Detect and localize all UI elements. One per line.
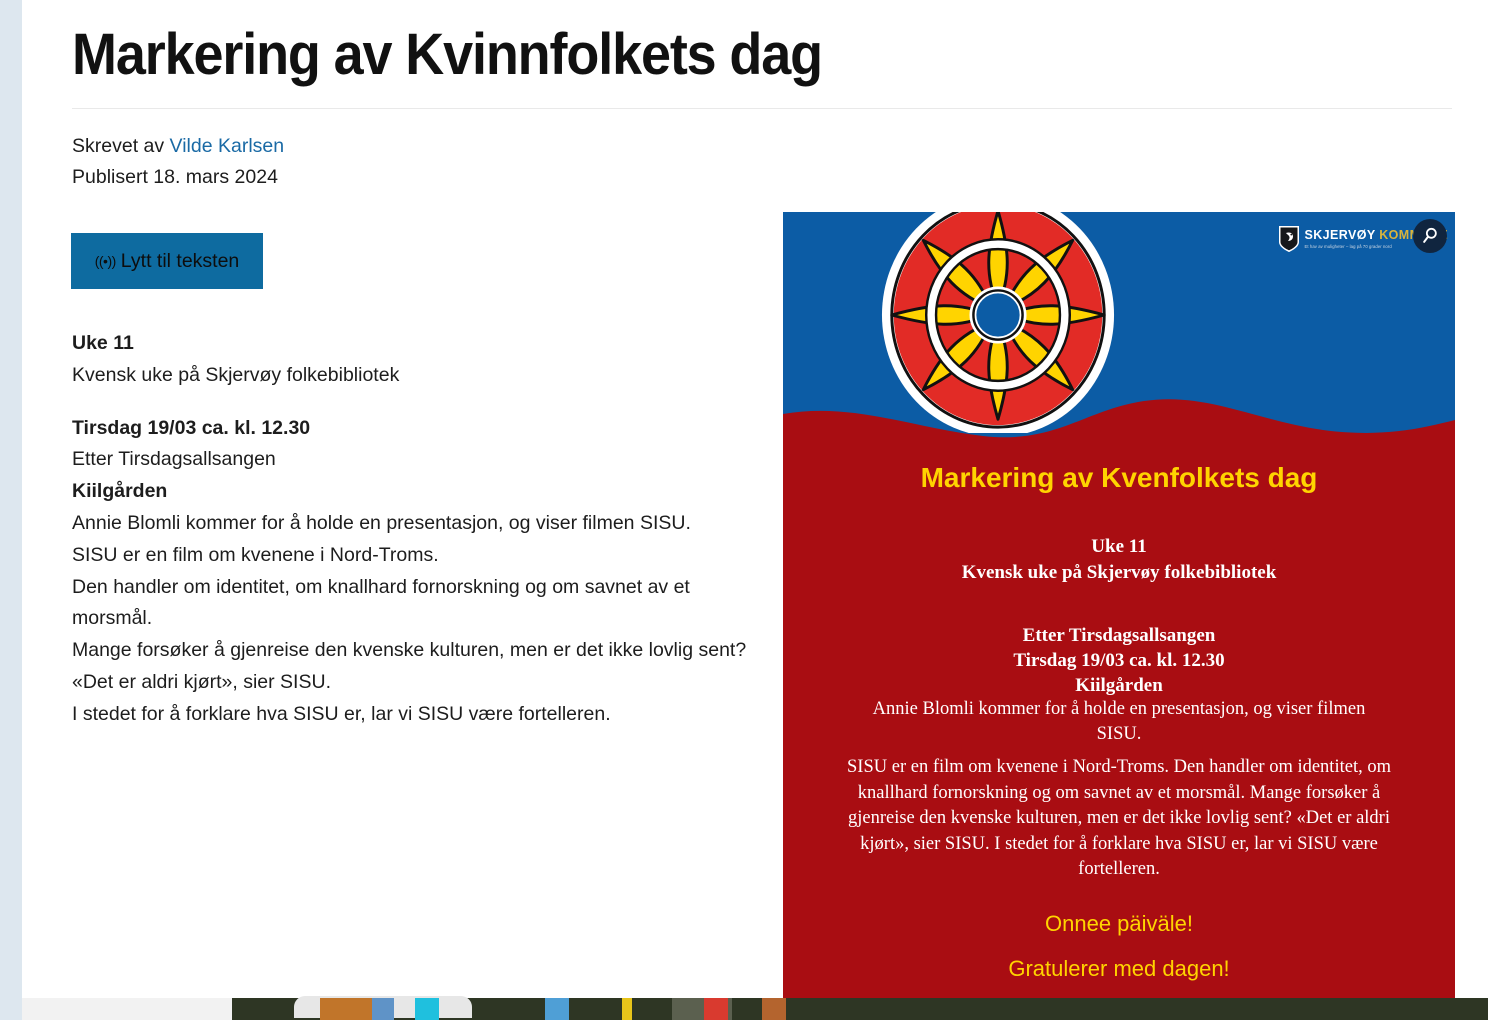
- body-line: Tirsdag 19/03 ca. kl. 12.30: [72, 413, 762, 445]
- body-line: Mange forsøker å gjenreise den kvenske k…: [72, 635, 762, 699]
- title-divider: [72, 108, 1452, 109]
- poster-title: Markering av Kvenfolkets dag: [783, 462, 1455, 494]
- dock-icon-yellow[interactable]: [622, 998, 632, 1020]
- broadcast-icon: ((•)): [95, 254, 116, 268]
- desktop-taskbar[interactable]: [0, 998, 1488, 1020]
- body-line: Uke 11: [72, 328, 762, 360]
- poster-description: Annie Blomli kommer for å holde en prese…: [783, 697, 1455, 747]
- listen-to-text-button[interactable]: ((•)) Lytt til teksten: [71, 233, 263, 289]
- body-line: I stedet for å forklare hva SISU er, lar…: [72, 699, 762, 731]
- byline: Skrevet av Vilde Karlsen: [72, 131, 284, 161]
- dock-icon-blue[interactable]: [372, 998, 394, 1020]
- body-line: Kiilgården: [72, 476, 762, 508]
- taskbar-left-edge: [0, 998, 22, 1020]
- browser-left-margin: [22, 0, 30, 1005]
- listen-button-label: Lytt til teksten: [121, 250, 240, 273]
- dock-icon-brown[interactable]: [762, 998, 786, 1020]
- poster-body-text: SISU er en film om kvenene i Nord-Troms.…: [783, 755, 1455, 883]
- dock-icon-1[interactable]: [232, 998, 294, 1020]
- page-title: Markering av Kvinnfolkets dag: [72, 22, 1355, 89]
- poster-greeting-kven: Onnee päiväle!: [783, 911, 1455, 937]
- poster-greeting-norwegian: Gratulerer med dagen!: [783, 956, 1455, 982]
- body-line: Annie Blomli kommer for å holde en prese…: [72, 508, 762, 540]
- magnifier-icon: [1421, 227, 1439, 245]
- shield-logo-icon: [1278, 225, 1300, 253]
- body-line: Etter Tirsdagsallsangen: [72, 444, 762, 476]
- body-line: SISU er en film om kvenene i Nord-Troms.: [72, 540, 762, 572]
- dock-icon-cyan[interactable]: [415, 998, 439, 1020]
- image-zoom-button[interactable]: [1413, 219, 1447, 253]
- body-line: Kvensk uke på Skjervøy folkebibliotek: [72, 360, 762, 392]
- poster-image[interactable]: SKJERVØY KOMMUNE Et hav av muligheter – …: [783, 212, 1455, 1005]
- kven-sun-emblem-icon: [880, 212, 1116, 433]
- poster-when-block: Etter TirsdagsallsangenTirsdag 19/03 ca.…: [783, 623, 1455, 698]
- paragraph-gap: [72, 392, 762, 413]
- logo-name-primary: SKJERVØY: [1305, 228, 1376, 242]
- browser-viewport: Markering av Kvinnfolkets dag Skrevet av…: [0, 0, 1488, 1020]
- dock-icon-lightblue[interactable]: [545, 998, 569, 1020]
- dock-icon-orange[interactable]: [320, 998, 372, 1020]
- byline-prefix: Skrevet av: [72, 135, 170, 157]
- poster-when-line: Kiilgården: [783, 673, 1455, 698]
- poster-week-block: Uke 11Kvensk uke på Skjervøy folkebiblio…: [783, 534, 1455, 586]
- article-body: Uke 11Kvensk uke på Skjervøy folkebiblio…: [72, 328, 762, 731]
- poster-when-line: Tirsdag 19/03 ca. kl. 12.30: [783, 648, 1455, 673]
- author-link[interactable]: Vilde Karlsen: [170, 135, 285, 157]
- body-line: Den handler om identitet, om knallhard f…: [72, 572, 762, 636]
- poster-week-line: Kvensk uke på Skjervøy folkebibliotek: [783, 560, 1455, 586]
- dock-icon-red[interactable]: [704, 998, 728, 1020]
- taskbar-left-panel: [0, 998, 232, 1020]
- browser-left-gutter: [0, 0, 22, 1005]
- poster-week-line: Uke 11: [783, 534, 1455, 560]
- published-date: Publisert 18. mars 2024: [72, 162, 278, 192]
- poster-when-line: Etter Tirsdagsallsangen: [783, 623, 1455, 648]
